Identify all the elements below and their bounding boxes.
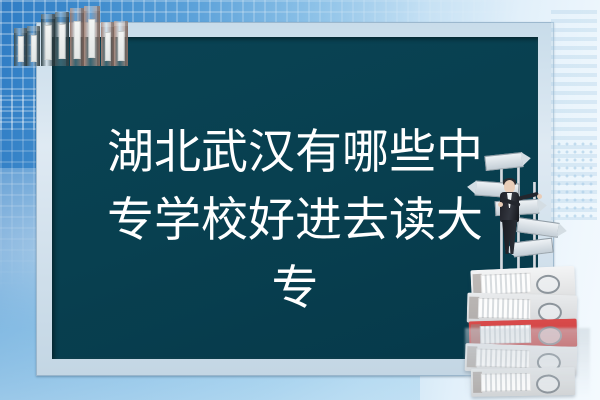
binder-label-strip xyxy=(59,24,66,59)
binder-label-strip xyxy=(17,36,23,62)
binder-paper-edge xyxy=(481,273,532,295)
figure-right-hand xyxy=(537,194,542,199)
headline-line-3: 专 xyxy=(272,255,319,323)
figure-left-hand xyxy=(498,202,503,207)
headline-line-2: 专学校好进去读大 xyxy=(107,187,483,255)
binder-edge-shadow xyxy=(66,12,69,66)
binder-label-strip xyxy=(74,21,81,59)
archive-binders-row xyxy=(14,2,144,66)
binder-paper-edge xyxy=(478,298,531,319)
binder-edge-shadow xyxy=(125,21,128,66)
headline-line-1: 湖北武汉有哪些中 xyxy=(107,119,483,187)
illustration-group xyxy=(455,160,600,400)
archive-binder xyxy=(84,6,100,66)
binder-label-strip xyxy=(30,35,36,62)
archive-binder xyxy=(41,14,55,66)
binder-label-strip xyxy=(118,31,125,61)
archive-binder xyxy=(55,12,69,66)
archive-binder xyxy=(114,21,128,66)
binder-edge-shadow xyxy=(97,6,100,66)
dot-pattern-backdrop xyxy=(555,140,595,220)
binder-label-strip xyxy=(88,19,95,58)
binder-label-strip xyxy=(104,32,110,61)
archive-binder xyxy=(14,28,27,66)
stack-reflection xyxy=(465,328,590,396)
binder-label-strip xyxy=(45,25,52,59)
archive-binder xyxy=(70,8,84,66)
binder-ring-hole xyxy=(536,274,561,294)
binder-edge-shadow xyxy=(37,26,40,66)
poster-canvas: 湖北武汉有哪些中 专学校好进去读大 专 xyxy=(0,0,600,400)
businessman-figure xyxy=(485,180,537,258)
figure-legs xyxy=(502,220,517,254)
figure-right-arm xyxy=(517,192,539,201)
archive-binder xyxy=(27,26,40,66)
archive-binder xyxy=(101,22,114,66)
